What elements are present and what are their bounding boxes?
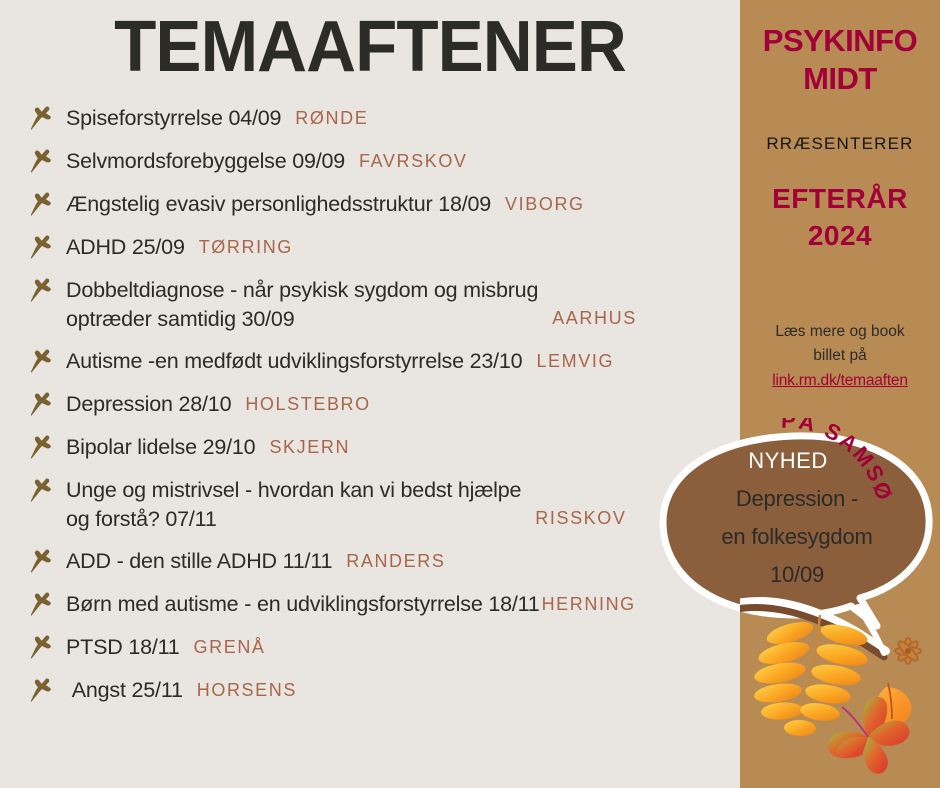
event-row: ADD - den stille ADHD 11/11RANDERS bbox=[22, 547, 740, 577]
presenter-label: RRÆSENTERER bbox=[740, 134, 940, 154]
brand-name-line2: MIDT bbox=[803, 61, 877, 96]
season-block: EFTERÅR 2024 bbox=[740, 180, 940, 254]
event-title: Børn med autisme - en udviklingsforstyrr… bbox=[66, 590, 540, 619]
event-row: Selvmordsforebyggelse 09/09FAVRSKOV bbox=[22, 147, 740, 177]
event-title: Autisme -en medfødt udviklingsforstyrrel… bbox=[66, 347, 522, 376]
pushpin-icon bbox=[26, 148, 56, 176]
event-title: Spiseforstyrrelse 04/09 bbox=[66, 104, 281, 133]
event-city: HERNING bbox=[542, 590, 636, 620]
event-city: RØNDE bbox=[295, 104, 368, 134]
event-city: AARHUS bbox=[552, 304, 637, 334]
event-city: TØRRING bbox=[199, 233, 293, 263]
event-city: GRENÅ bbox=[194, 633, 266, 663]
event-city: LEMVIG bbox=[536, 347, 614, 377]
sidebar: PSYKINFO MIDT RRÆSENTERER EFTERÅR 2024 L… bbox=[740, 0, 940, 788]
event-row: Dobbeltdiagnose - når psykisk sygdom og … bbox=[22, 276, 740, 334]
event-title: Angst 25/11 bbox=[66, 676, 183, 705]
pushpin-icon bbox=[26, 477, 56, 505]
event-title: ADHD 25/09 bbox=[66, 233, 185, 262]
pushpin-icon bbox=[26, 234, 56, 262]
event-title: Selvmordsforebyggelse 09/09 bbox=[66, 147, 345, 176]
event-title: Unge og mistrivsel - hvordan kan vi beds… bbox=[66, 476, 521, 534]
pushpin-icon bbox=[26, 434, 56, 462]
event-title: PTSD 18/11 bbox=[66, 633, 180, 662]
event-row: Unge og mistrivsel - hvordan kan vi beds… bbox=[22, 476, 740, 534]
event-row: Ængstelig evasiv personlighedsstruktur 1… bbox=[22, 190, 740, 220]
pushpin-icon bbox=[26, 634, 56, 662]
bubble-line-2: en folkesygdom bbox=[672, 518, 922, 556]
event-title: Depression 28/10 bbox=[66, 390, 231, 419]
booking-line2: billet på bbox=[813, 347, 866, 364]
event-city: RANDERS bbox=[346, 547, 445, 577]
event-city: FAVRSKOV bbox=[359, 147, 468, 177]
event-row: Børn med autisme - en udviklingsforstyrr… bbox=[22, 590, 740, 620]
pushpin-icon bbox=[26, 677, 56, 705]
brand-name: PSYKINFO MIDT bbox=[740, 22, 940, 98]
bubble-line-3: 10/09 bbox=[672, 556, 922, 594]
event-row: PTSD 18/11GRENÅ bbox=[22, 633, 740, 663]
event-title: ADD - den stille ADHD 11/11 bbox=[66, 547, 332, 576]
event-row: Depression 28/10HOLSTEBRO bbox=[22, 390, 740, 420]
news-badge: NYHED bbox=[654, 448, 922, 474]
pushpin-icon bbox=[26, 348, 56, 376]
season-line1: EFTERÅR bbox=[772, 183, 908, 214]
bubble-line-1: Depression - bbox=[672, 480, 922, 518]
pushpin-icon bbox=[26, 277, 56, 305]
event-title: Bipolar lidelse 29/10 bbox=[66, 433, 255, 462]
poster-canvas: TEMAAFTENER Spiseforstyrrelse 04/09RØNDE… bbox=[0, 0, 940, 788]
event-row: Angst 25/11HORSENS bbox=[22, 676, 740, 706]
event-city: HORSENS bbox=[197, 676, 297, 706]
event-title: Ængstelig evasiv personlighedsstruktur 1… bbox=[66, 190, 491, 219]
event-city: HOLSTEBRO bbox=[245, 390, 370, 420]
main-column: TEMAAFTENER Spiseforstyrrelse 04/09RØNDE… bbox=[0, 0, 740, 788]
event-row: Bipolar lidelse 29/10SKJERN bbox=[22, 433, 740, 463]
event-row: ADHD 25/09TØRRING bbox=[22, 233, 740, 263]
pushpin-icon bbox=[26, 548, 56, 576]
booking-link[interactable]: link.rm.dk/temaaften bbox=[740, 369, 940, 393]
event-list: Spiseforstyrrelse 04/09RØNDESelvmordsfor… bbox=[22, 104, 740, 719]
brand-name-line1: PSYKINFO bbox=[763, 23, 917, 58]
booking-line1: Læs mere og book bbox=[775, 323, 904, 340]
pushpin-icon bbox=[26, 391, 56, 419]
event-city: VIBORG bbox=[505, 190, 585, 220]
season-year: 2024 bbox=[808, 220, 872, 251]
bubble-content: NYHED Depression - en folkesygdom 10/09 bbox=[672, 448, 922, 594]
booking-block: Læs mere og book billet på link.rm.dk/te… bbox=[740, 320, 940, 393]
event-city: SKJERN bbox=[269, 433, 350, 463]
event-row: Autisme -en medfødt udviklingsforstyrrel… bbox=[22, 347, 740, 377]
pushpin-icon bbox=[26, 191, 56, 219]
event-title: Dobbeltdiagnose - når psykisk sygdom og … bbox=[66, 276, 538, 334]
event-row: Spiseforstyrrelse 04/09RØNDE bbox=[22, 104, 740, 134]
pushpin-icon bbox=[26, 591, 56, 619]
page-title: TEMAAFTENER bbox=[15, 8, 725, 86]
pushpin-icon bbox=[26, 105, 56, 133]
event-city: RISSKOV bbox=[535, 504, 626, 534]
